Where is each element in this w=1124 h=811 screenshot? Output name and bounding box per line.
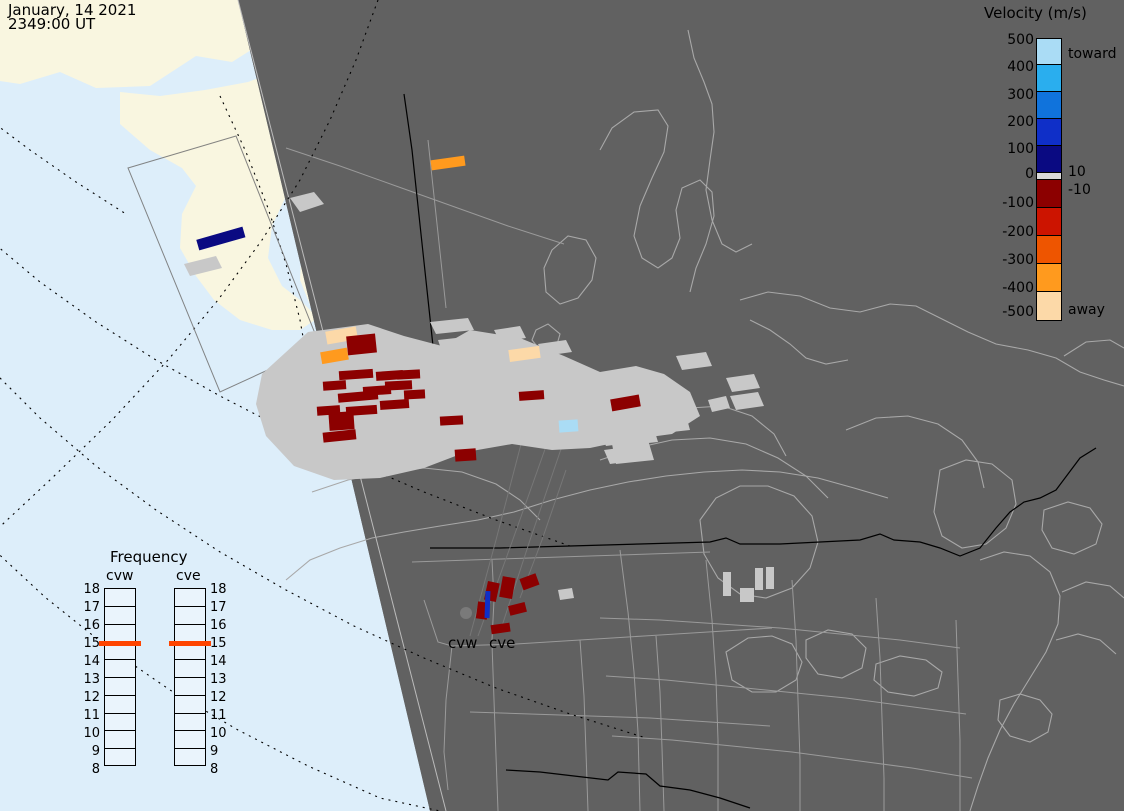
freq-tick-cvw-9: 9 <box>76 744 100 759</box>
freq-tick-cve-16: 16 <box>210 618 234 633</box>
colorbar-tick-100: 100 <box>988 141 1034 157</box>
velocity-cell <box>385 380 412 390</box>
freq-tick-cve-13: 13 <box>210 672 234 687</box>
freq-tick-cvw-10: 10 <box>76 726 100 741</box>
freq-tick-cve-11: 11 <box>210 708 234 723</box>
freq-tick-cve-14: 14 <box>210 654 234 669</box>
map-site-label-cve: cve <box>489 634 515 652</box>
colorbar-segment-neg400-500 <box>1036 292 1062 321</box>
velocity-cell <box>485 591 491 618</box>
colorbar-segment-500-400 <box>1036 38 1062 65</box>
plot-time: 2349:00 UT <box>8 17 95 32</box>
velocity-cell <box>346 333 377 355</box>
colorbar-tick-0: 0 <box>988 166 1034 182</box>
fan-plot-stage: January, 14 2021 2349:00 UT Velocity (m/… <box>0 0 1124 811</box>
velocity-cell <box>404 389 425 399</box>
velocity-cell <box>397 369 420 379</box>
colorbar-tick-200: 200 <box>988 114 1034 130</box>
freq-tick-cve-17: 17 <box>210 600 234 615</box>
frequency-radar-name-cve: cve <box>176 568 201 584</box>
freq-tick-cve-18: 18 <box>210 582 234 597</box>
velocity-cell <box>455 448 477 461</box>
colorbar-tick-neg400: -400 <box>988 280 1034 296</box>
velocity-cell <box>519 390 545 401</box>
velocity-cell <box>328 411 354 431</box>
colorbar-tick-400: 400 <box>988 59 1034 75</box>
colorbar-tick-300: 300 <box>988 87 1034 103</box>
velocity-cell <box>559 419 579 432</box>
freq-tick-cvw-13: 13 <box>76 672 100 687</box>
colorbar-segment-neg10-100 <box>1036 179 1062 208</box>
map-site-label-cvw: cvw <box>448 634 477 652</box>
colorbar-segment-200-100 <box>1036 119 1062 146</box>
colorbar-tick-neg300: -300 <box>988 252 1034 268</box>
freq-tick-cvw-18: 18 <box>76 582 100 597</box>
freq-tick-cvw-14: 14 <box>76 654 100 669</box>
frequency-marker-cve <box>169 641 211 646</box>
freq-tick-cve-15: 15 <box>210 636 234 651</box>
frequency-bar-cve[interactable] <box>174 588 206 766</box>
colorbar-tick-500: 500 <box>988 32 1034 48</box>
freq-tick-cvw-16: 16 <box>76 618 100 633</box>
colorbar-segment-neg100-200 <box>1036 208 1062 236</box>
frequency-title: Frequency <box>110 548 188 566</box>
colorbar-neg10-label: -10 <box>1068 182 1091 198</box>
frequency-radar-name-cvw: cvw <box>106 568 133 584</box>
colorbar-segment-neg200-300 <box>1036 236 1062 264</box>
freq-tick-cvw-11: 11 <box>76 708 100 723</box>
colorbar-tick-neg200: -200 <box>988 224 1034 240</box>
frequency-bar-cvw[interactable] <box>104 588 136 766</box>
colorbar-segment-300-200 <box>1036 92 1062 119</box>
velocity-colorbar[interactable] <box>1036 38 1062 323</box>
velocity-cell <box>323 380 347 391</box>
freq-tick-cve-10: 10 <box>210 726 234 741</box>
freq-tick-cvw-17: 17 <box>76 600 100 615</box>
frequency-panel: Frequency cvw cve <box>86 548 251 788</box>
freq-tick-cvw-8: 8 <box>76 762 100 777</box>
radar-site-marker <box>460 607 472 619</box>
freq-tick-cve-12: 12 <box>210 690 234 705</box>
colorbar-segment-neg300-400 <box>1036 264 1062 292</box>
colorbar-segment-100-10 <box>1036 146 1062 173</box>
velocity-cell <box>440 415 463 425</box>
colorbar-tick-neg100: -100 <box>988 195 1034 211</box>
colorbar-away-label: away <box>1068 302 1105 318</box>
freq-tick-cve-9: 9 <box>210 744 234 759</box>
freq-tick-cve-8: 8 <box>210 762 234 777</box>
frequency-marker-cvw <box>99 641 141 646</box>
colorbar-segment-400-300 <box>1036 65 1062 92</box>
freq-tick-cvw-15: 15 <box>76 636 100 651</box>
colorbar-toward-label: toward <box>1068 46 1116 62</box>
freq-tick-cvw-12: 12 <box>76 690 100 705</box>
colorbar-tick-neg500: -500 <box>988 304 1034 320</box>
colorbar-title: Velocity (m/s) <box>984 4 1087 22</box>
colorbar-pos10-label: 10 <box>1068 164 1086 180</box>
